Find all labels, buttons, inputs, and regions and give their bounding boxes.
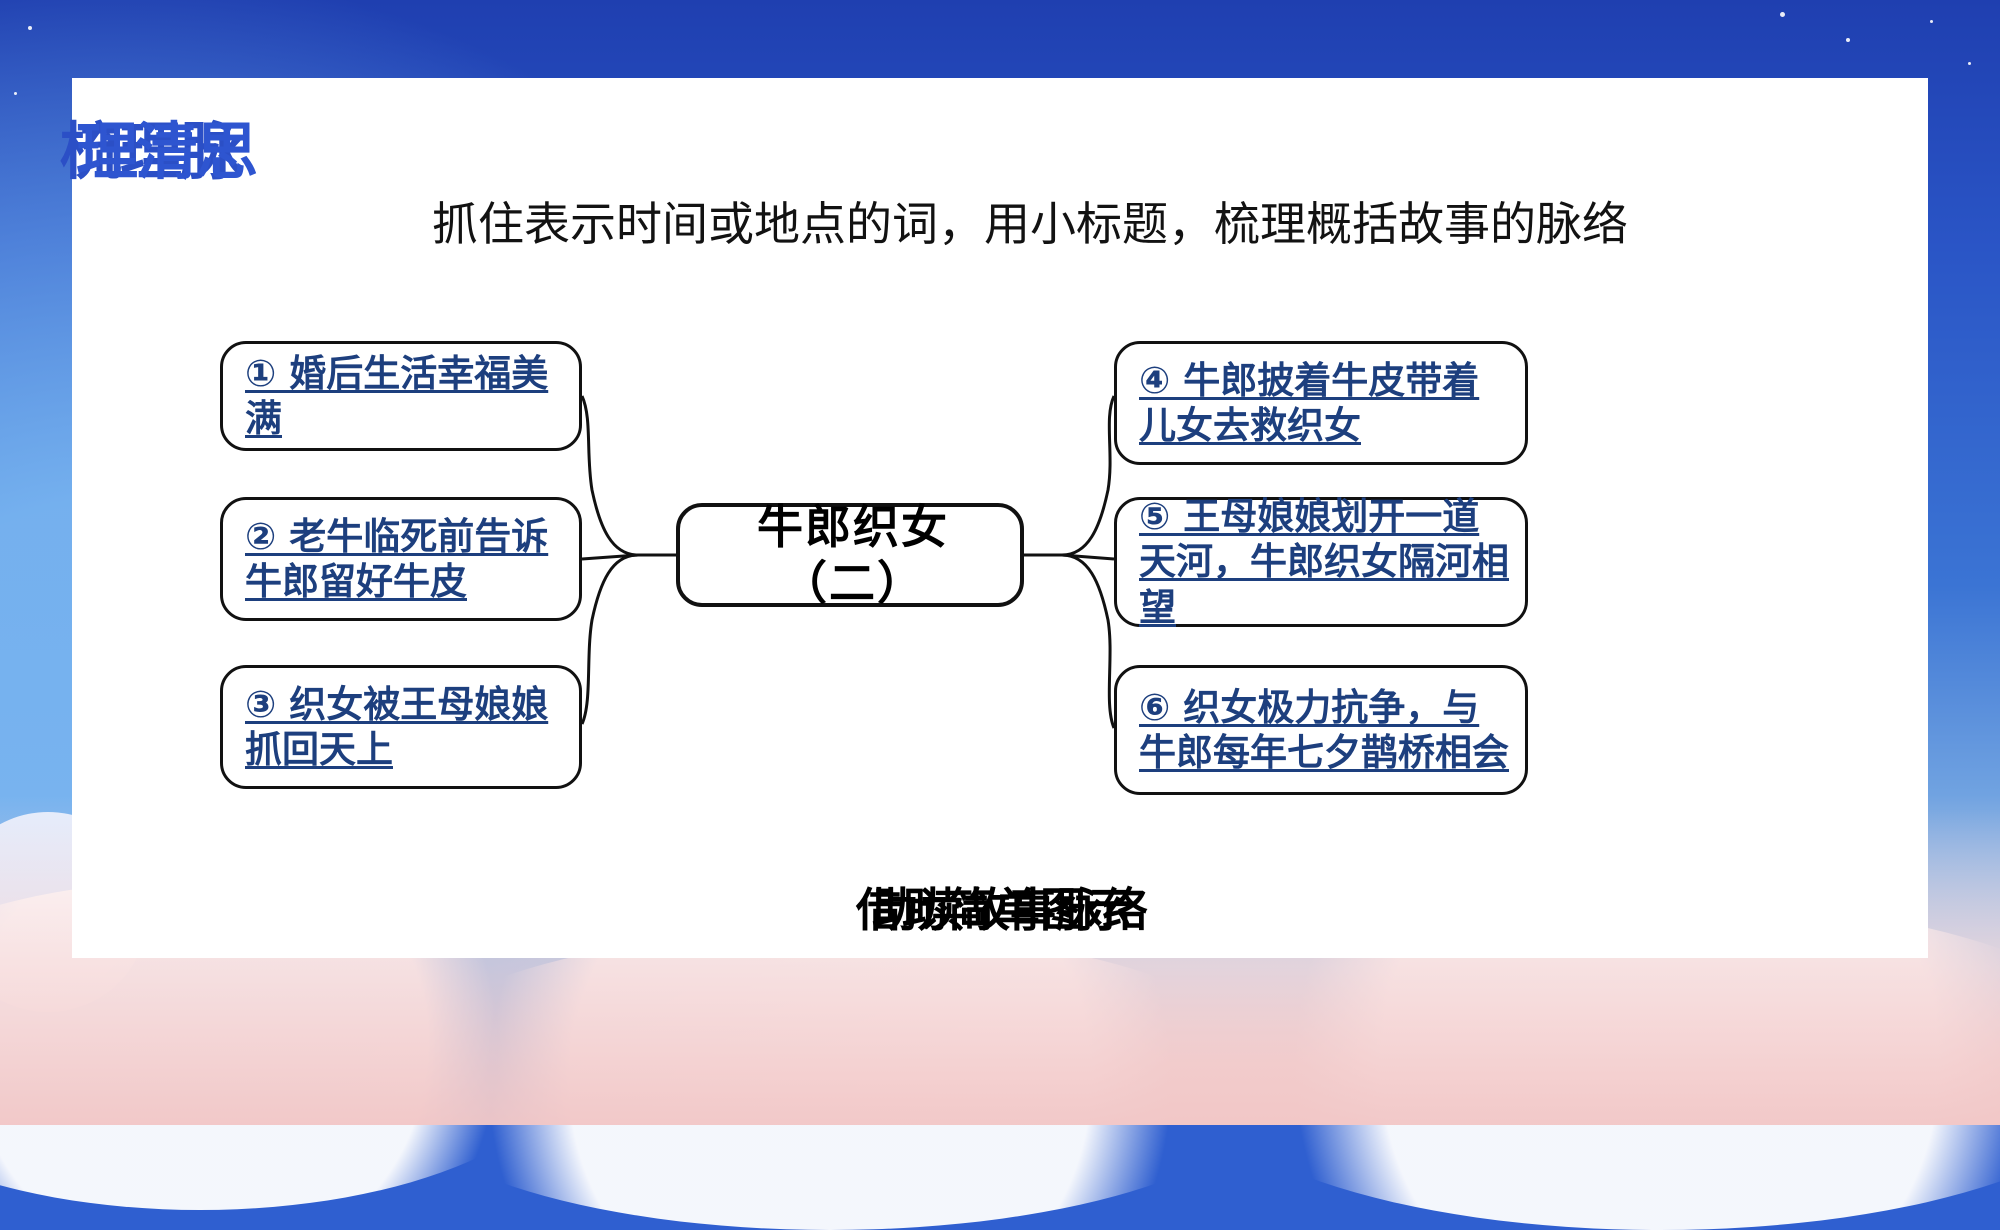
mindmap-node-5[interactable]: ⑤ 王母娘娘划开一道天河，牛郎织女隔河相望 <box>1114 497 1528 627</box>
mindmap-node-4-label: ④ 牛郎披着牛皮带着儿女去救织女 <box>1139 358 1509 448</box>
star-decoration <box>1846 38 1850 42</box>
mindmap-node-6[interactable]: ⑥ 织女极力抗争，与牛郎每年七夕鹊桥相会 <box>1114 665 1528 795</box>
star-decoration <box>1930 20 1933 23</box>
mindmap-node-2-label: ② 老牛临死前告诉牛郎留好牛皮 <box>245 514 563 604</box>
slide-card: 梳理脉 理清思 抓住表示时间或地点的词，用小标题，梳理概括故事的脉络 ① 婚后生… <box>72 78 1928 958</box>
mindmap-node-6-label: ⑥ 织女极力抗争，与牛郎每年七夕鹊桥相会 <box>1139 685 1509 775</box>
star-decoration <box>14 92 17 95</box>
star-decoration <box>1968 62 1971 65</box>
mindmap-node-2[interactable]: ② 老牛临死前告诉牛郎留好牛皮 <box>220 497 582 621</box>
mindmap-node-3-label: ③ 织女被王母娘娘抓回天上 <box>245 682 563 772</box>
star-decoration <box>1780 12 1785 17</box>
mind-map: ① 婚后生活幸福美满 ② 老牛临死前告诉牛郎留好牛皮 ③ 织女被王母娘娘抓回天上… <box>72 228 1928 868</box>
mindmap-node-5-label: ⑤ 王母娘娘划开一道天河，牛郎织女隔河相望 <box>1139 494 1509 629</box>
mindmap-center-node[interactable]: 牛郎织女（二） <box>676 503 1024 607</box>
slide-header: 梳理脉 理清思 抓住表示时间或地点的词，用小标题，梳理概括故事的脉络 <box>72 78 1928 228</box>
mindmap-node-4[interactable]: ④ 牛郎披着牛皮带着儿女去救织女 <box>1114 341 1528 465</box>
mindmap-node-3[interactable]: ③ 织女被王母娘娘抓回天上 <box>220 665 582 789</box>
footer-caption-secondary: 助读故事脉络 <box>82 874 1938 940</box>
slide-footer: 借助简单图示 助读故事脉络 <box>72 874 1928 958</box>
section-title: 理清思 <box>76 122 256 184</box>
mindmap-node-1-label: ① 婚后生活幸福美满 <box>245 351 563 441</box>
mindmap-center-label: 牛郎织女（二） <box>702 499 1004 611</box>
star-decoration <box>28 26 32 30</box>
mindmap-node-1[interactable]: ① 婚后生活幸福美满 <box>220 341 582 451</box>
